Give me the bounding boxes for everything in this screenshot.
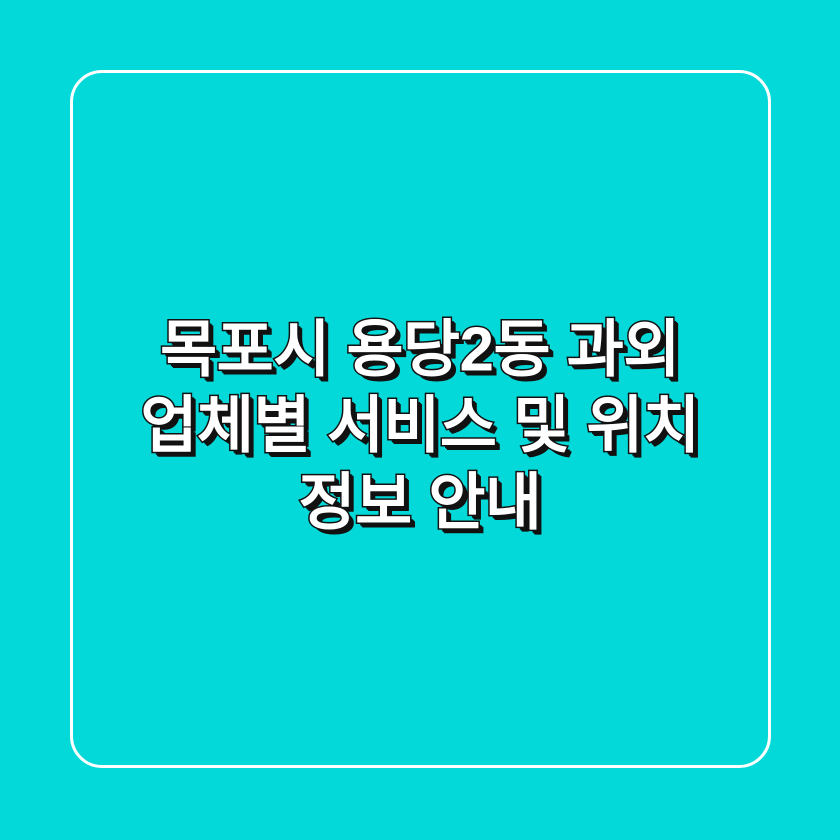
headline-line-3: 정보 안내: [24, 465, 816, 541]
headline-line-1: 목포시 용당2동 과외: [24, 313, 816, 389]
headline-line-2: 업체별 서비스 및 위치: [24, 389, 816, 465]
headline-block: 목포시 용당2동 과외 업체별 서비스 및 위치 정보 안내: [0, 313, 840, 542]
poster-canvas: 목포시 용당2동 과외 업체별 서비스 및 위치 정보 안내: [0, 0, 840, 840]
